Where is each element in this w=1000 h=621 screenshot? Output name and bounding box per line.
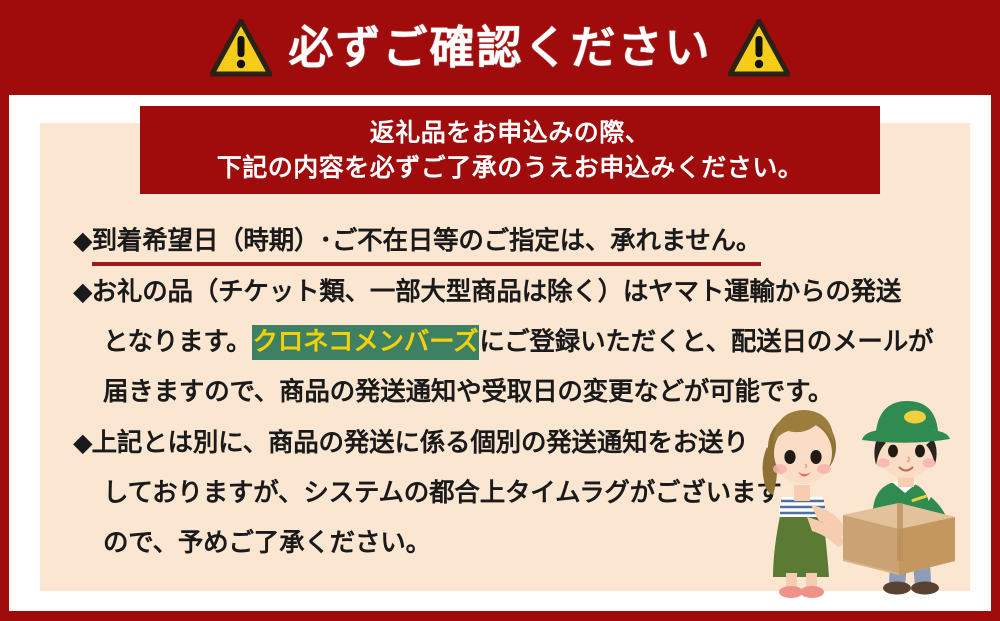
notice-line: ◆上記とは別に、商品の発送に係る個別の発送通知をお送り	[73, 418, 953, 468]
notice-line: ◆お礼の品（チケット類、一部大型商品は除く）はヤマト運輸からの発送	[73, 267, 953, 317]
footer-band	[0, 611, 1000, 621]
notice-text-post: にご登録いただくと、配送日のメールが	[479, 327, 933, 357]
notice-text: ので、予めご了承ください。	[103, 528, 431, 558]
notice-text: お礼の品（チケット類、一部大型商品は除く）はヤマト運輸からの発送	[92, 277, 902, 307]
notice-banner-page: 必ずご確認ください 返礼品をお申込みの際、 下記の内容を必ずご了承のうえお申込み…	[0, 0, 1000, 621]
sub-banner-line-2: 下記の内容を必ずご了承のうえお申込みください。	[217, 150, 804, 186]
notice-line: 届きますので、商品の発送通知や受取日の変更などが可能です。	[73, 367, 953, 417]
notice-line: ◆到着希望日（時期）･ご不在日等のご指定は、承れません。	[73, 216, 953, 266]
notice-text: 届きますので、商品の発送通知や受取日の変更などが可能です。	[103, 377, 833, 407]
notice-text: 上記とは別に、商品の発送に係る個別の発送通知をお送り	[92, 428, 749, 458]
notice-item: ◆到着希望日（時期）･ご不在日等のご指定は、承れません。	[73, 216, 953, 266]
notice-list: ◆到着希望日（時期）･ご不在日等のご指定は、承れません。 ◆お礼の品（チケット類…	[73, 216, 953, 569]
notice-item: ◆お礼の品（チケット類、一部大型商品は除く）はヤマト運輸からの発送 となります。…	[73, 267, 953, 417]
warning-triangle-icon	[210, 19, 272, 77]
bullet-diamond: ◆	[73, 277, 92, 307]
header-band: 必ずご確認ください	[0, 0, 1000, 95]
bullet-diamond: ◆	[73, 428, 92, 458]
bullet-diamond: ◆	[73, 226, 92, 256]
notice-text: しておりますが、システムの都合上タイムラグがございます	[103, 478, 782, 508]
notice-text-pre: となります。	[103, 327, 252, 357]
sub-banner-line-1: 返礼品をお申込みの際、	[370, 115, 651, 151]
sub-banner: 返礼品をお申込みの際、 下記の内容を必ずご了承のうえお申込みください。	[140, 106, 880, 194]
notice-item: ◆上記とは別に、商品の発送に係る個別の発送通知をお送り しておりますが、システム…	[73, 418, 953, 568]
notice-line: ので、予めご了承ください。	[73, 518, 953, 568]
warning-triangle-icon-right	[728, 19, 790, 77]
notice-line: しておりますが、システムの都合上タイムラグがございます	[73, 468, 953, 518]
highlight-kuroneko-members: クロネコメンバーズ	[252, 325, 480, 360]
notice-line: となります。クロネコメンバーズにご登録いただくと、配送日のメールが	[73, 317, 953, 367]
notice-text-underlined: 到着希望日（時期）･ご不在日等のご指定は、承れません。	[92, 221, 762, 266]
page-title: 必ずご確認ください	[288, 25, 711, 70]
